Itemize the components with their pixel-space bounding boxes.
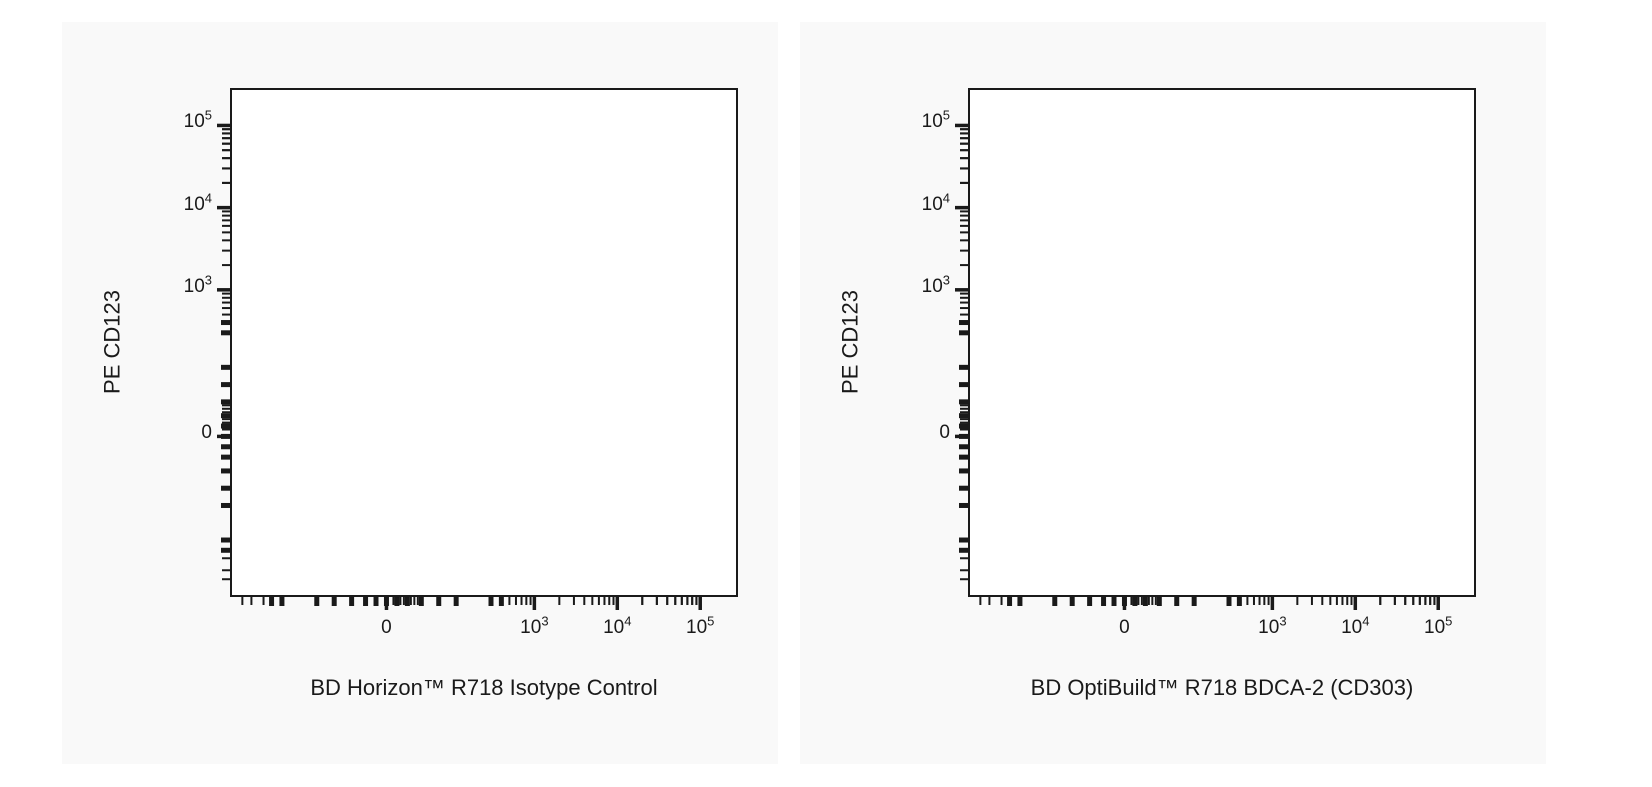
x-tick-label-1e5: 105 (660, 617, 740, 639)
plot-area-left: PE CD123 BD Horizon™ R718 Isotype Contro… (62, 22, 778, 764)
x-tick-label-1e3: 103 (494, 617, 574, 639)
x-axis-title-right: BD OptiBuild™ R718 BDCA-2 (CD303) (968, 675, 1476, 701)
x-tick-label-0: 0 (1084, 617, 1164, 639)
y-tick-label-1e3: 103 (906, 276, 950, 298)
y-tick-label-1e5: 105 (168, 111, 212, 133)
x-tick-label-1e5: 105 (1398, 617, 1478, 639)
x-tick-label-1e4: 104 (577, 617, 657, 639)
plot-panel-left: PE CD123 BD Horizon™ R718 Isotype Contro… (62, 22, 778, 764)
y-axis-title-left: PE CD123 (99, 87, 125, 596)
x-tick-label-1e3: 103 (1232, 617, 1312, 639)
y-axis-title-right: PE CD123 (837, 87, 863, 596)
x-tick-label-0: 0 (346, 617, 426, 639)
y-tick-label-1e4: 104 (906, 194, 950, 216)
x-axis-title-left: BD Horizon™ R718 Isotype Control (230, 675, 738, 701)
y-tick-label-0: 0 (906, 422, 950, 444)
plot-area-right: PE CD123 BD OptiBuild™ R718 BDCA-2 (CD30… (800, 22, 1546, 764)
plot-frame-right (968, 88, 1476, 597)
x-tick-label-1e4: 104 (1315, 617, 1395, 639)
y-tick-label-1e3: 103 (168, 276, 212, 298)
y-tick-label-0: 0 (168, 422, 212, 444)
y-tick-label-1e5: 105 (906, 111, 950, 133)
figure-root: PE CD123 BD Horizon™ R718 Isotype Contro… (0, 0, 1652, 787)
plot-panel-right: PE CD123 BD OptiBuild™ R718 BDCA-2 (CD30… (800, 22, 1546, 764)
plot-frame-left (230, 88, 738, 597)
y-tick-label-1e4: 104 (168, 194, 212, 216)
